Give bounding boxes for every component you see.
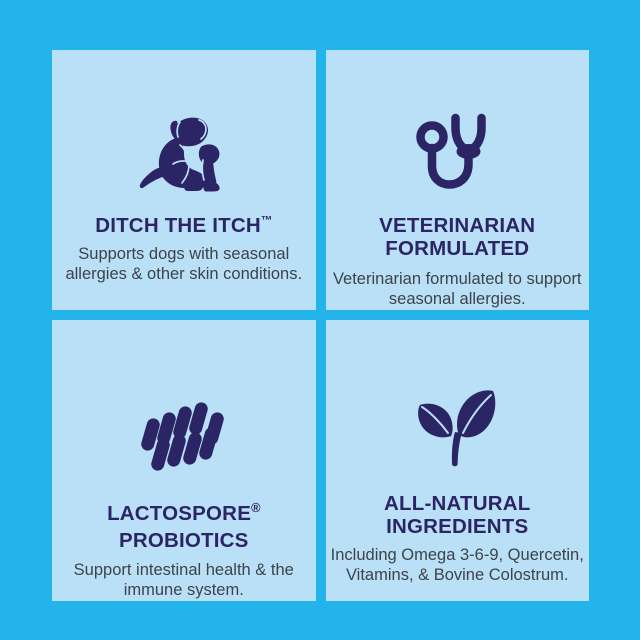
- panel-body-text: Supports dogs with seasonal allergies & …: [52, 245, 316, 285]
- feature-panel-veterinarian-formulated: VETERINARIAN FORMULATED Veterinarian for…: [326, 50, 590, 310]
- feature-panel-lactospore-probiotics: LACTOSPORE®PROBIOTICS Support intestinal…: [52, 320, 316, 601]
- panel-title: DITCH THE ITCH™: [95, 214, 272, 237]
- panel-body-text: Support intestinal health & the immune s…: [52, 561, 316, 601]
- panel-title: VETERINARIAN FORMULATED: [326, 214, 590, 261]
- panel-title: ALL-NATURAL INGREDIENTS: [326, 492, 590, 539]
- panel-body-text: Including Omega 3-6-9, Quercetin, Vitami…: [326, 546, 590, 586]
- feature-grid: DITCH THE ITCH™ Supports dogs with seaso…: [52, 50, 589, 589]
- registered-symbol: ®: [251, 500, 260, 515]
- stethoscope-icon: [326, 50, 590, 192]
- feature-panel-ditch-the-itch: DITCH THE ITCH™ Supports dogs with seaso…: [52, 50, 316, 310]
- panel-title: LACTOSPORE®PROBIOTICS: [107, 500, 260, 554]
- feature-panel-all-natural-ingredients: ALL-NATURAL INGREDIENTS Including Omega …: [326, 320, 590, 601]
- scratching-dog-icon: [52, 50, 316, 192]
- panel-title-line2: PROBIOTICS: [119, 529, 249, 552]
- probiotic-bacteria-icon: [52, 320, 316, 474]
- leaf-sprout-icon: [326, 320, 590, 468]
- panel-body-text: Veterinarian formulated to support seaso…: [326, 270, 590, 310]
- trademark-symbol: ™: [261, 215, 272, 227]
